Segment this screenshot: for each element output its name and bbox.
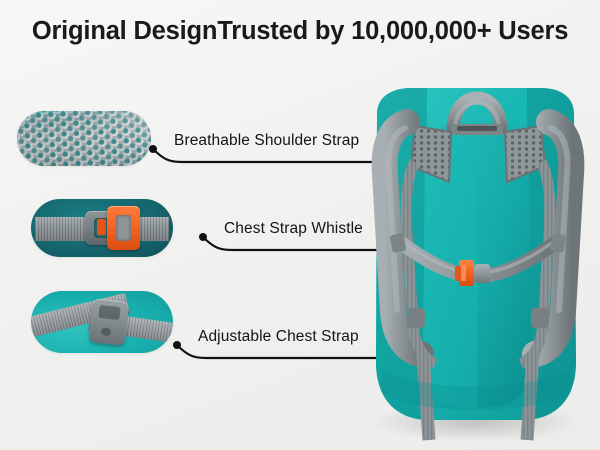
title-bar: Original DesignTrusted by 10,000,000+ Us… — [0, 14, 600, 48]
product-infographic: Original DesignTrusted by 10,000,000+ Us… — [0, 0, 600, 450]
thumbnail-chest-strap-whistle — [31, 199, 173, 257]
thumbnail-shoulder-strap-mesh — [17, 111, 151, 166]
callout-label-breathable-shoulder-strap: Breathable Shoulder Strap — [174, 132, 359, 150]
buckle-prong-icon — [97, 219, 106, 235]
mesh-sheen — [17, 111, 151, 166]
backpack-illustration — [355, 62, 600, 450]
thumbnail-adjustable-chest-strap — [31, 291, 173, 353]
callout-label-adjustable-chest-strap: Adjustable Chest Strap — [198, 328, 359, 346]
whistle-buckle-icon — [107, 206, 140, 250]
page-title: Original DesignTrusted by 10,000,000+ Us… — [0, 14, 600, 48]
callout-label-chest-strap-whistle: Chest Strap Whistle — [224, 220, 363, 238]
slider-buckle-icon — [89, 298, 129, 346]
backpack-image — [355, 62, 600, 450]
